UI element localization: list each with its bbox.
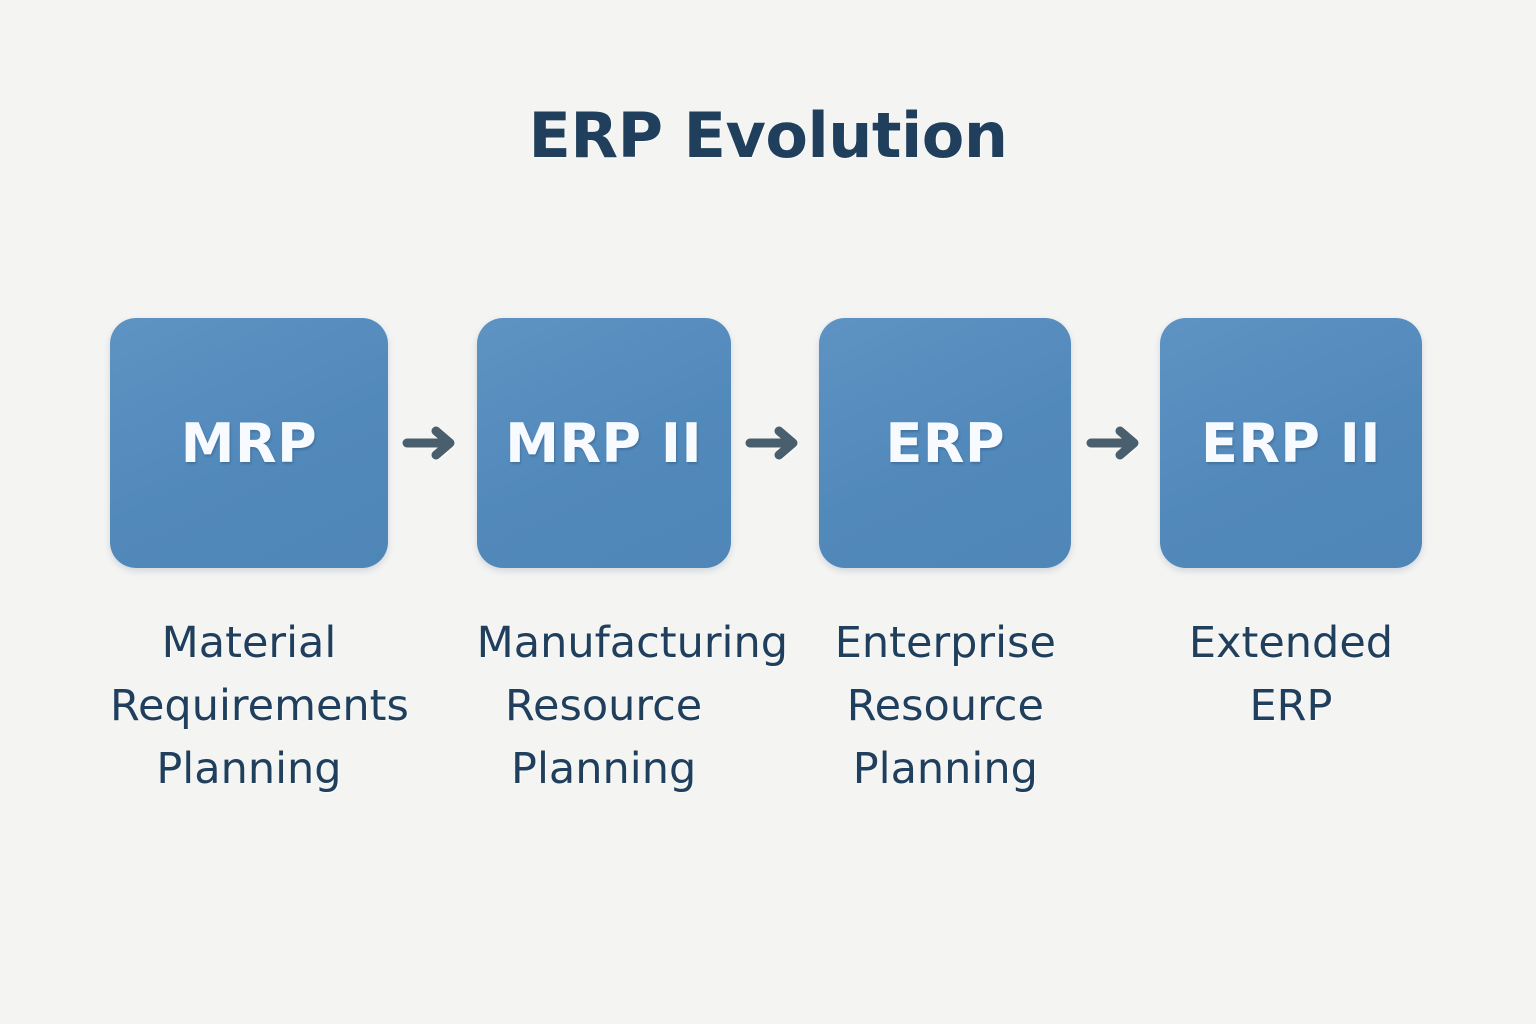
stage-box-erp-ii[interactable]: ERP II [1160,318,1422,568]
caption-line: ERP [1160,675,1422,738]
caption-line: Extended [1160,612,1422,675]
caption-line: Planning [110,738,388,801]
arrow-right-icon-2 [742,420,808,466]
stage-erp[interactable]: ERP [819,318,1071,568]
stage-caption-mrp: Material Requirements Planning [110,612,388,800]
stage-caption-mrp-ii: Manufacturing Resource Planning [477,612,731,800]
caption-line: Requirements [110,675,388,738]
stage-acronym-label: MRP II [505,412,702,475]
page-title: ERP Evolution [0,103,1536,168]
stage-caption-row: Material Requirements Planning Manufactu… [110,612,1422,822]
stage-caption-erp: Enterprise Resource Planning [819,612,1071,800]
stage-erp-ii[interactable]: ERP II [1160,318,1422,568]
stage-mrp-ii[interactable]: MRP II [477,318,731,568]
arrow-right-icon-1 [399,420,465,466]
caption-line: Material [110,612,388,675]
caption-line: Resource [477,675,731,738]
caption-line: Planning [477,738,731,801]
stage-box-erp[interactable]: ERP [819,318,1071,568]
stage-acronym-label: ERP [886,412,1006,475]
stage-acronym-label: ERP II [1201,412,1381,475]
caption-line: Resource [819,675,1071,738]
stage-acronym-label: MRP [181,412,317,475]
caption-line: Manufacturing [477,612,731,675]
caption-line: Planning [819,738,1071,801]
stage-caption-erp-ii: Extended ERP [1160,612,1422,738]
stage-mrp[interactable]: MRP [110,318,388,568]
caption-line: Enterprise [819,612,1071,675]
stage-box-mrp[interactable]: MRP [110,318,388,568]
stage-flow-row: MRP MRP II [110,318,1422,568]
arrow-right-icon-3 [1083,420,1149,466]
erp-evolution-diagram: ERP Evolution MRP MRP II [0,0,1536,1024]
stage-box-mrp-ii[interactable]: MRP II [477,318,731,568]
